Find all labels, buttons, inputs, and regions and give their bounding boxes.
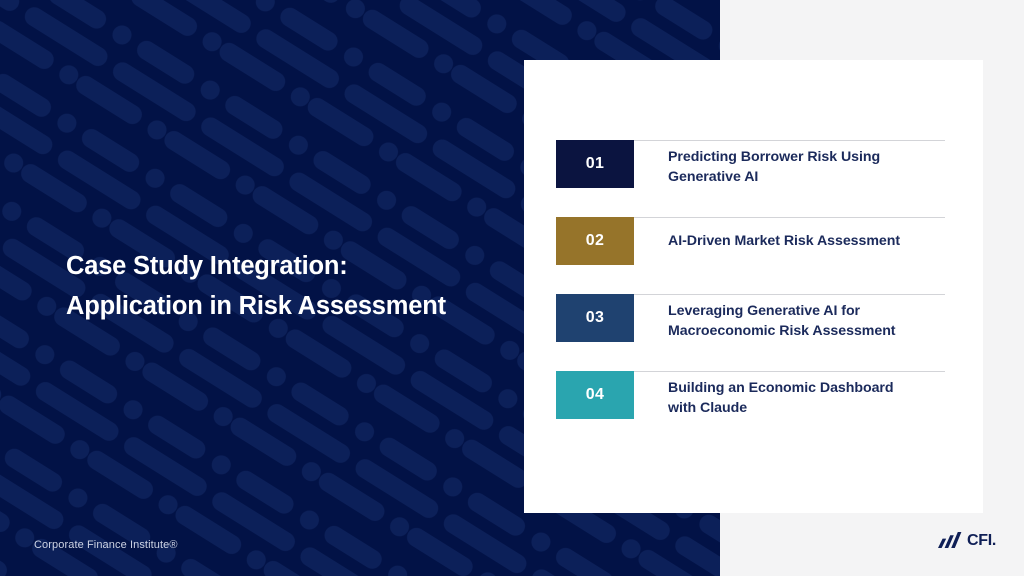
- list-item[interactable]: 02 AI-Driven Market Risk Assessment: [556, 217, 945, 265]
- item-divider: [634, 217, 945, 218]
- item-label-line-1: Leveraging Generative AI for: [668, 303, 860, 319]
- list-item[interactable]: 04 Building an Economic Dashboard with C…: [556, 371, 945, 419]
- item-number-badge: 01: [556, 140, 634, 188]
- slide-title-line-2: Application in Risk Assessment: [66, 286, 506, 326]
- item-label-line-2: Generative AI: [668, 169, 758, 185]
- cfi-logo: CFI .: [938, 532, 996, 549]
- footer-brand-text: Corporate Finance Institute®: [34, 539, 178, 551]
- item-label: Leveraging Generative AI for Macroeconom…: [634, 294, 945, 341]
- item-label-line-1: Predicting Borrower Risk Using: [668, 149, 880, 165]
- item-label: Building an Economic Dashboard with Clau…: [634, 371, 945, 418]
- list-item[interactable]: 03 Leveraging Generative AI for Macroeco…: [556, 294, 945, 342]
- item-divider: [634, 371, 945, 372]
- agenda-list: 01 Predicting Borrower Risk Using Genera…: [556, 140, 945, 419]
- slide-canvas: Case Study Integration: Application in R…: [0, 0, 1024, 576]
- item-label-line-2: Macroeconomic Risk Assessment: [668, 323, 895, 339]
- item-number-badge: 02: [556, 217, 634, 265]
- item-label-line-1: Building an Economic Dashboard: [668, 380, 894, 396]
- cfi-wordmark: CFI: [967, 533, 992, 549]
- cfi-bars-mark-icon: [938, 532, 963, 549]
- item-number-badge: 03: [556, 294, 634, 342]
- item-label: Predicting Borrower Risk Using Generativ…: [634, 140, 945, 187]
- item-label-line-2: with Claude: [668, 400, 747, 416]
- slide-title: Case Study Integration: Application in R…: [66, 246, 506, 326]
- item-number-badge: 04: [556, 371, 634, 419]
- slide-title-line-1: Case Study Integration:: [66, 246, 506, 286]
- item-label-line-1: AI-Driven Market Risk Assessment: [668, 233, 900, 249]
- agenda-card: 01 Predicting Borrower Risk Using Genera…: [524, 60, 983, 513]
- list-item[interactable]: 01 Predicting Borrower Risk Using Genera…: [556, 140, 945, 188]
- cfi-period: .: [992, 533, 996, 549]
- item-label: AI-Driven Market Risk Assessment: [634, 217, 945, 251]
- item-divider: [634, 140, 945, 141]
- item-divider: [634, 294, 945, 295]
